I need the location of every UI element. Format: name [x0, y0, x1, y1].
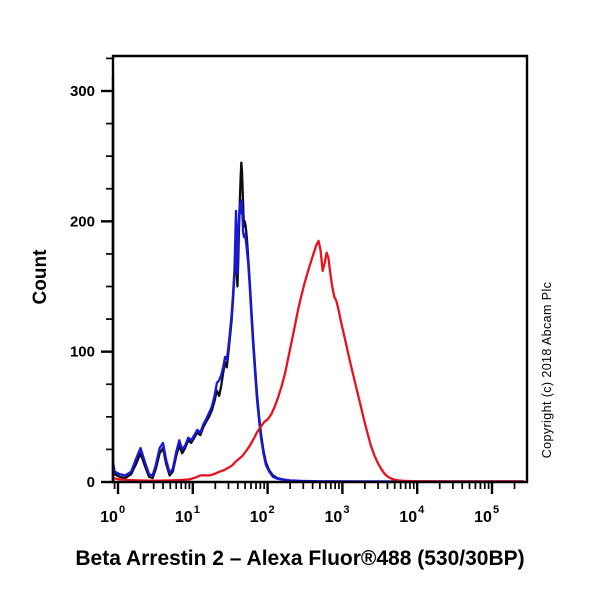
plot-frame — [113, 56, 527, 482]
histogram-curves — [113, 75, 523, 482]
x-tick-label: 10 — [250, 509, 268, 526]
curve-unstained-control — [113, 91, 523, 482]
axis-ticks — [101, 58, 515, 494]
x-tick-label: 10 — [399, 509, 417, 526]
tick-labels: 0100200300100101102103104105 — [70, 83, 499, 526]
x-tick-exponent: 1 — [194, 504, 200, 516]
x-tick-exponent: 2 — [269, 504, 275, 516]
y-tick-label: 0 — [87, 474, 95, 491]
page-title: Beta Arrestin 2 – Alexa Fluor®488 (530/3… — [75, 547, 524, 570]
copyright-notice: Copyright (c) 2018 Abcam Plc — [540, 282, 554, 459]
curve-isotype-control — [113, 75, 523, 482]
x-tick-label: 10 — [175, 509, 193, 526]
x-tick-exponent: 5 — [493, 504, 499, 516]
histogram-plot: 0100200300100101102103104105 Count Beta … — [0, 0, 600, 600]
y-axis-title: Count — [30, 249, 51, 305]
y-tick-label: 100 — [70, 344, 95, 361]
x-tick-label: 10 — [325, 509, 343, 526]
curve-beta-arrestin-2-stained — [113, 241, 523, 482]
y-tick-label: 300 — [70, 83, 95, 100]
flow-cytometry-figure: 0100200300100101102103104105 Count Beta … — [0, 0, 600, 600]
x-tick-exponent: 3 — [343, 504, 349, 516]
x-tick-exponent: 4 — [418, 504, 425, 516]
x-tick-label: 10 — [474, 509, 492, 526]
x-tick-exponent: 0 — [119, 504, 125, 516]
y-tick-label: 200 — [70, 213, 95, 230]
x-tick-label: 10 — [100, 509, 118, 526]
